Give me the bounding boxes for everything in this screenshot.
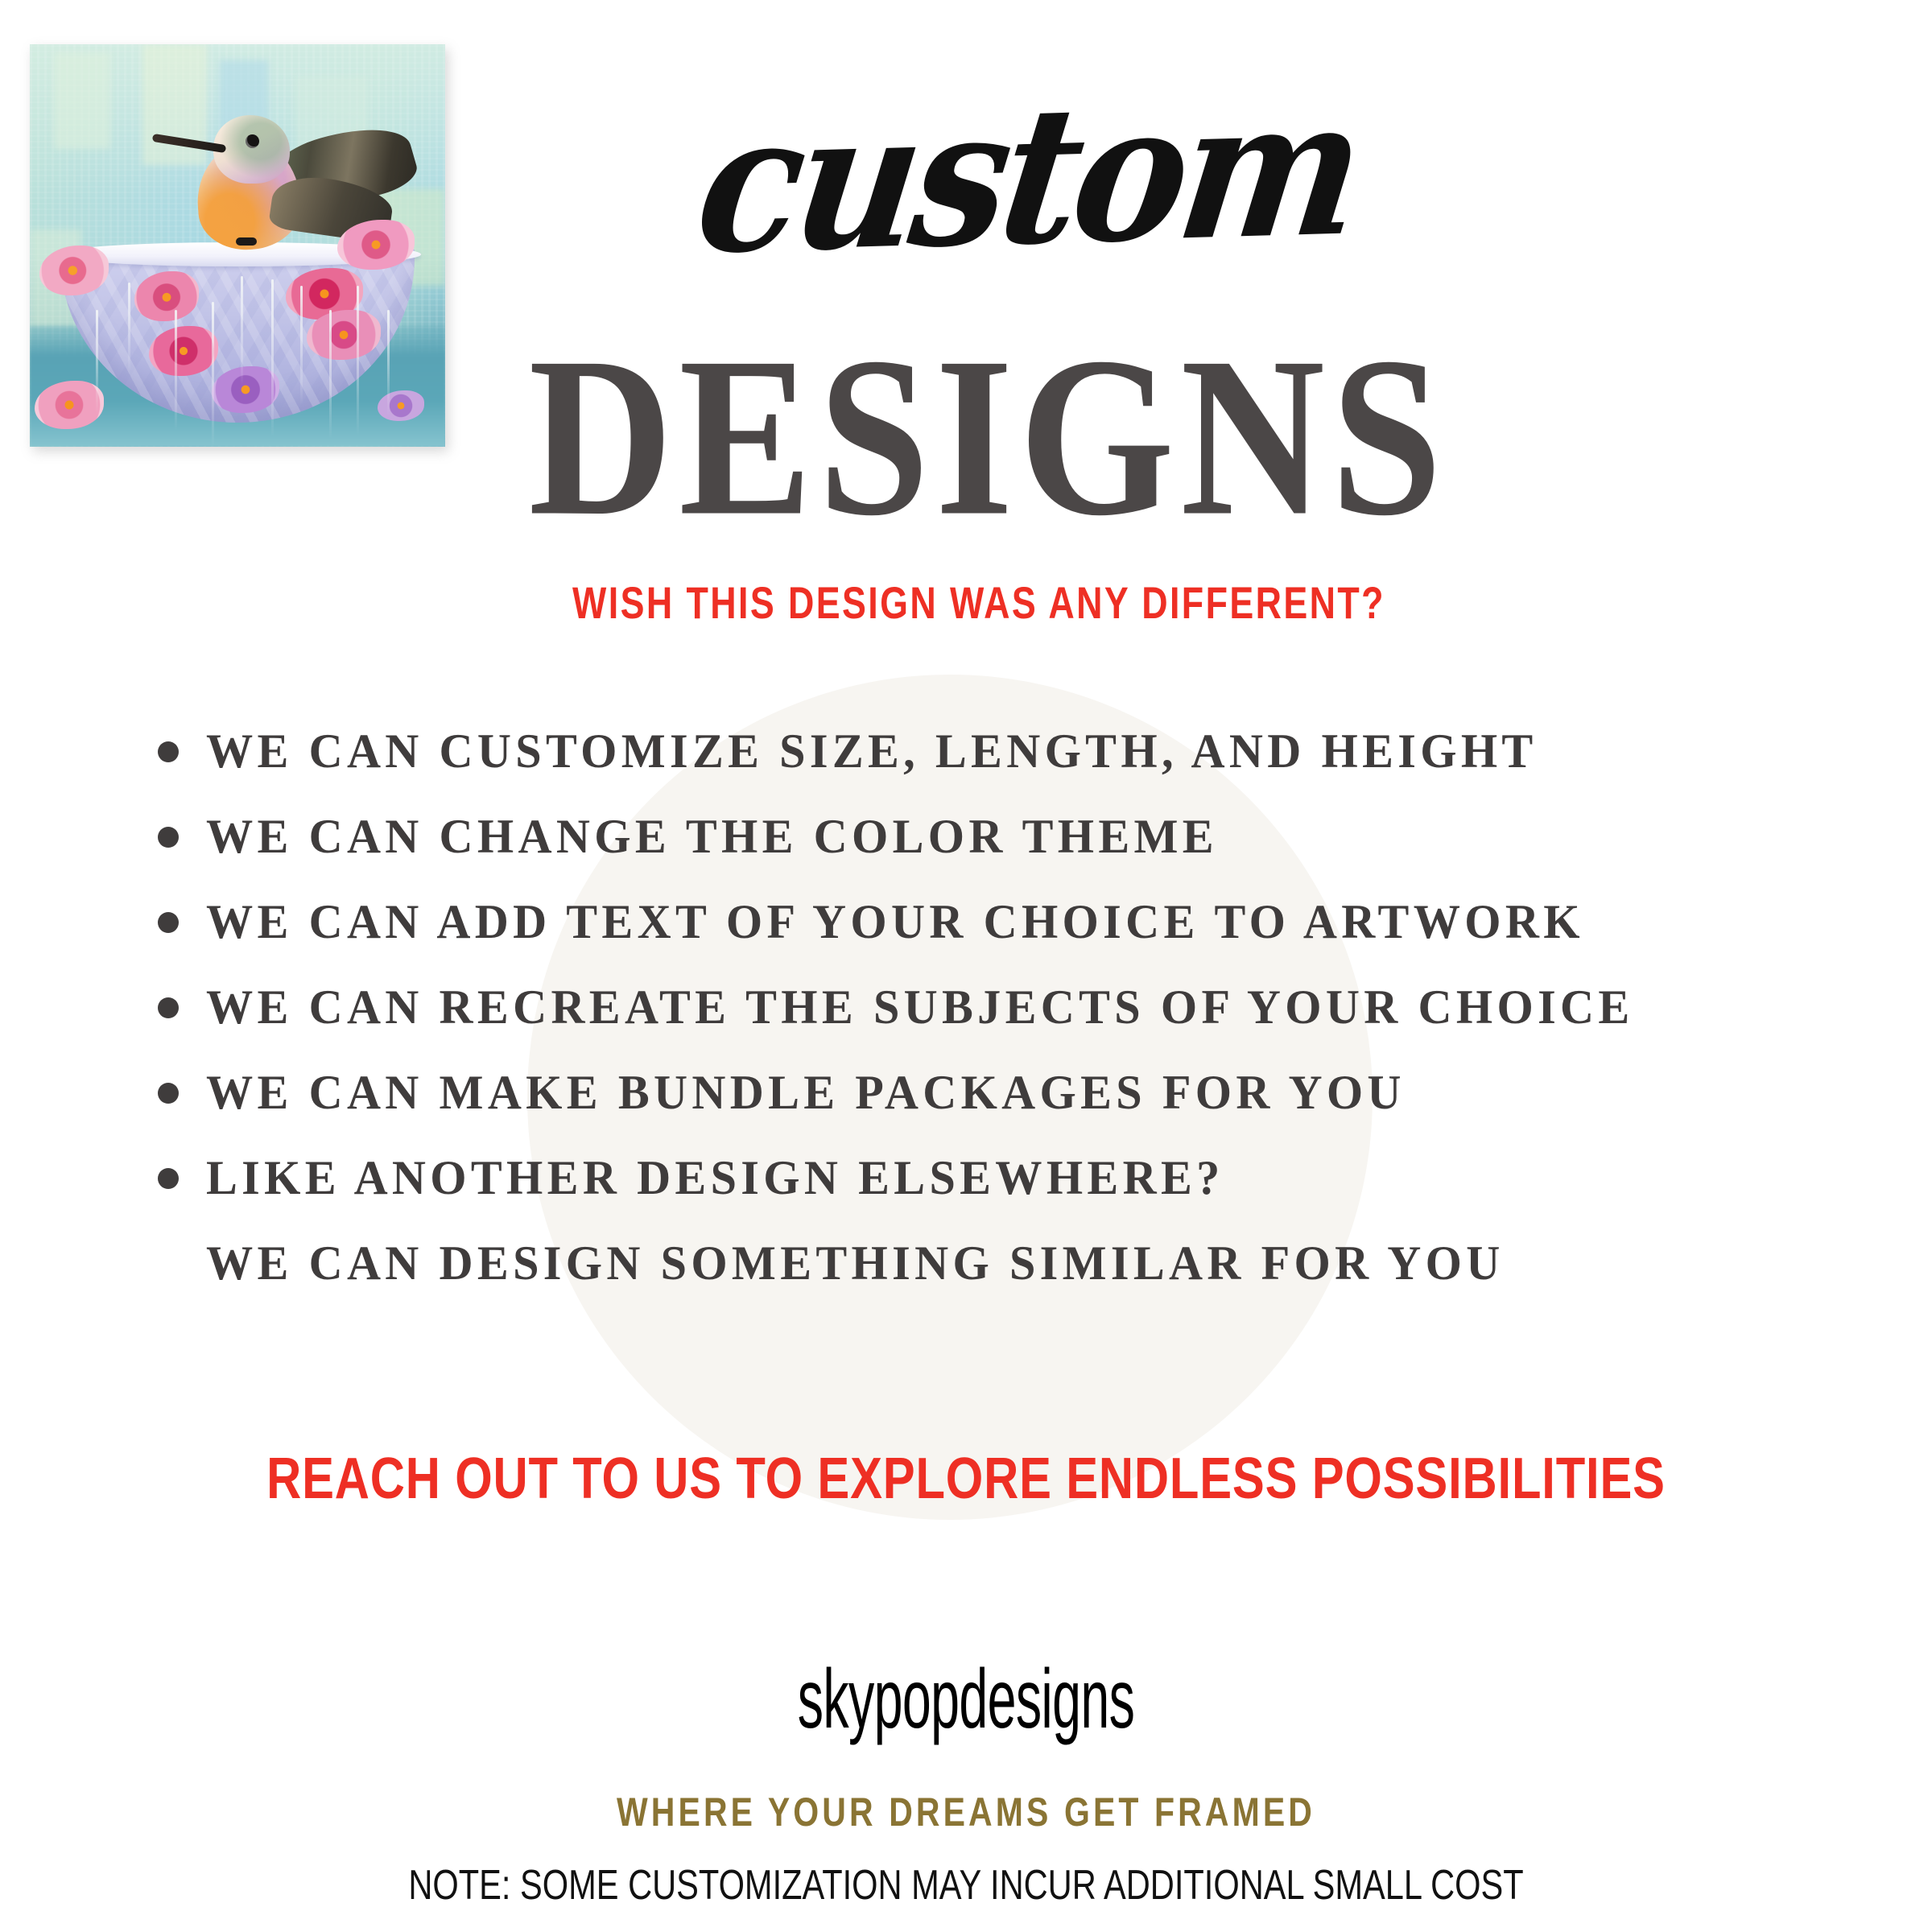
list-item: WE CAN CUSTOMIZE SIZE, LENGTH, AND HEIGH… <box>0 708 1932 794</box>
list-item-label: WE CAN ADD TEXT OF YOUR CHOICE TO ARTWOR… <box>206 894 1584 950</box>
benefits-list: WE CAN CUSTOMIZE SIZE, LENGTH, AND HEIGH… <box>0 708 1932 1306</box>
bullet-dot-icon <box>158 1083 179 1104</box>
list-item-continuation: WE CAN DESIGN SOMETHING SIMILAR FOR YOU <box>0 1220 1932 1306</box>
list-item: LIKE ANOTHER DESIGN ELSEWHERE? <box>0 1135 1932 1220</box>
list-item-label: WE CAN RECREATE THE SUBJECTS OF YOUR CHO… <box>206 980 1634 1035</box>
footnote: NOTE: SOME CUSTOMIZATION MAY INCUR ADDIT… <box>193 1861 1739 1909</box>
brand-logo-text: skypopdesigns <box>367 1652 1565 1748</box>
list-item-label: WE CAN CHANGE THE COLOR THEME <box>206 809 1218 865</box>
list-item: WE CAN CHANGE THE COLOR THEME <box>0 794 1932 879</box>
subtitle-question: WISH THIS DESIGN WAS ANY DIFFERENT? <box>193 576 1739 629</box>
script-heading-custom: custom <box>688 72 1368 280</box>
page-title-designs: DESIGNS <box>77 323 1855 551</box>
list-item: WE CAN RECREATE THE SUBJECTS OF YOUR CHO… <box>0 964 1932 1050</box>
list-item-label: LIKE ANOTHER DESIGN ELSEWHERE? <box>206 1150 1224 1206</box>
bullet-dot-icon <box>158 741 179 762</box>
list-item-label: WE CAN CUSTOMIZE SIZE, LENGTH, AND HEIGH… <box>206 724 1538 779</box>
bullet-dot-icon <box>158 912 179 933</box>
poster-canvas: custom DESIGNS WISH THIS DESIGN WAS ANY … <box>0 0 1932 1932</box>
bird-eye <box>246 134 259 148</box>
brand-tagline: WHERE YOUR DREAMS GET FRAMED <box>174 1789 1758 1835</box>
list-item: WE CAN ADD TEXT OF YOUR CHOICE TO ARTWOR… <box>0 879 1932 964</box>
bullet-dot-icon <box>158 1168 179 1189</box>
list-item: WE CAN MAKE BUNDLE PACKAGES FOR YOU <box>0 1050 1932 1135</box>
bullet-dot-icon <box>158 997 179 1018</box>
call-to-action: REACH OUT TO US TO EXPLORE ENDLESS POSSI… <box>164 1446 1768 1512</box>
bullet-dot-icon <box>158 827 179 848</box>
list-item-label: WE CAN MAKE BUNDLE PACKAGES FOR YOU <box>206 1065 1406 1121</box>
paint-patch <box>54 52 110 149</box>
list-item-label: WE CAN DESIGN SOMETHING SIMILAR FOR YOU <box>206 1236 1505 1291</box>
bird-foot <box>236 237 257 246</box>
